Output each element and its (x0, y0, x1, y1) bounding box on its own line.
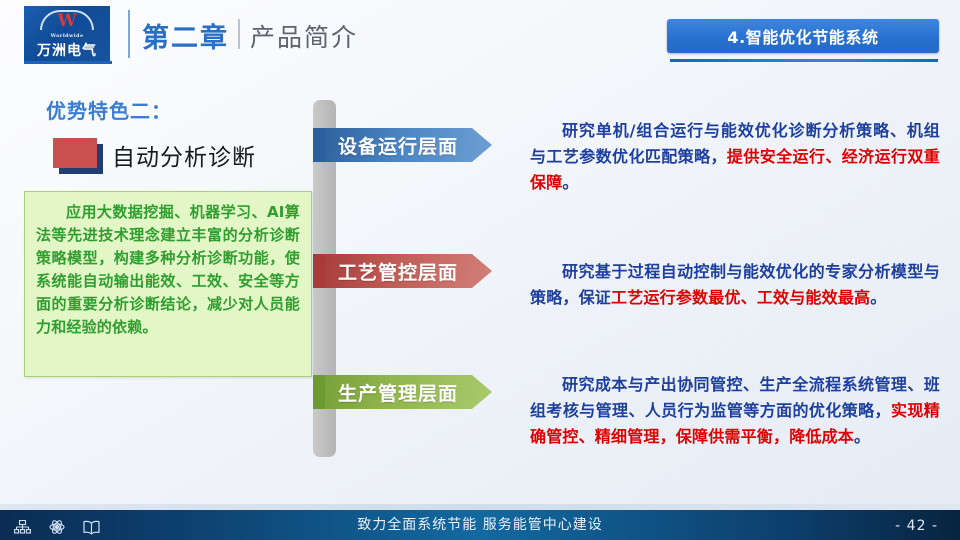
footer-bar: 致力全面系统节能 服务能管中心建设 - 42 - (0, 510, 960, 540)
footer-slogan: 致力全面系统节能 服务能管中心建设 (0, 514, 960, 534)
layer-chevron-label: 设备运行层面 (325, 132, 458, 159)
logo-w-letter: W (40, 11, 94, 31)
feature-bullet-icon (53, 138, 97, 168)
layer-description-tail: 。 (870, 288, 886, 307)
section-banner-label: 4.智能优化节能系统 (727, 24, 878, 48)
header-divider (128, 10, 130, 58)
layer-description-production: 研究成本与产出协同管控、生产全流程系统管理、班组考核与管理、人员行为监管等方面的… (530, 372, 940, 450)
footer-page-number: - 42 - (895, 518, 938, 534)
layer-description-equipment: 研究单机/组合运行与能效优化诊断分析策略、机组与工艺参数优化匹配策略，提供安全运… (530, 118, 940, 196)
feature-description-box: 应用大数据挖掘、机器学习、AI算法等先进技术理念建立丰富的分析诊断策略模型，构建… (24, 191, 312, 377)
layer-description-lead: 研究成本与产出协同管控、生产全流程系统管理、班组考核与管理、人员行为监管等方面的… (530, 375, 940, 420)
layer-chevron-label: 工艺管控层面 (325, 258, 458, 285)
logo-underline (24, 61, 112, 64)
logo-chinese-text: 万洲电气 (37, 40, 97, 60)
layer-chevron-production[interactable]: 生产管理层面 (325, 375, 492, 409)
feature-title: 优势特色二： (46, 95, 172, 124)
feature-description-text: 应用大数据挖掘、机器学习、AI算法等先进技术理念建立丰富的分析诊断策略模型，构建… (25, 192, 311, 339)
layer-chevron-process[interactable]: 工艺管控层面 (325, 254, 492, 288)
logo-mark-icon: W (40, 10, 94, 32)
section-banner: 4.智能优化节能系统 (667, 19, 939, 53)
chapter-subtitle: 产品简介 (250, 18, 358, 54)
chapter-separator (238, 19, 240, 49)
feature-name: 自动分析诊断 (112, 138, 256, 172)
logo-english-text: Worldwide (50, 33, 83, 39)
layer-description-process: 研究基于过程自动控制与能效优化的专家分析模型与策略，保证工艺运行参数最优、工效与… (530, 259, 940, 311)
layer-description-tail: 。 (854, 427, 870, 446)
company-logo: W Worldwide 万洲电气 (24, 6, 110, 62)
layer-chevron-label: 生产管理层面 (325, 379, 458, 406)
slide-canvas: W Worldwide 万洲电气 第二章 产品简介 4.智能优化节能系统 优势特… (0, 0, 960, 540)
section-banner-underline (670, 59, 938, 62)
chapter-title: 第二章 (142, 16, 229, 55)
layer-description-tail: 。 (562, 173, 578, 192)
layer-description-highlight: 工艺运行参数最优、工效与能效最高 (611, 288, 870, 307)
layer-chevron-equipment[interactable]: 设备运行层面 (325, 128, 492, 162)
